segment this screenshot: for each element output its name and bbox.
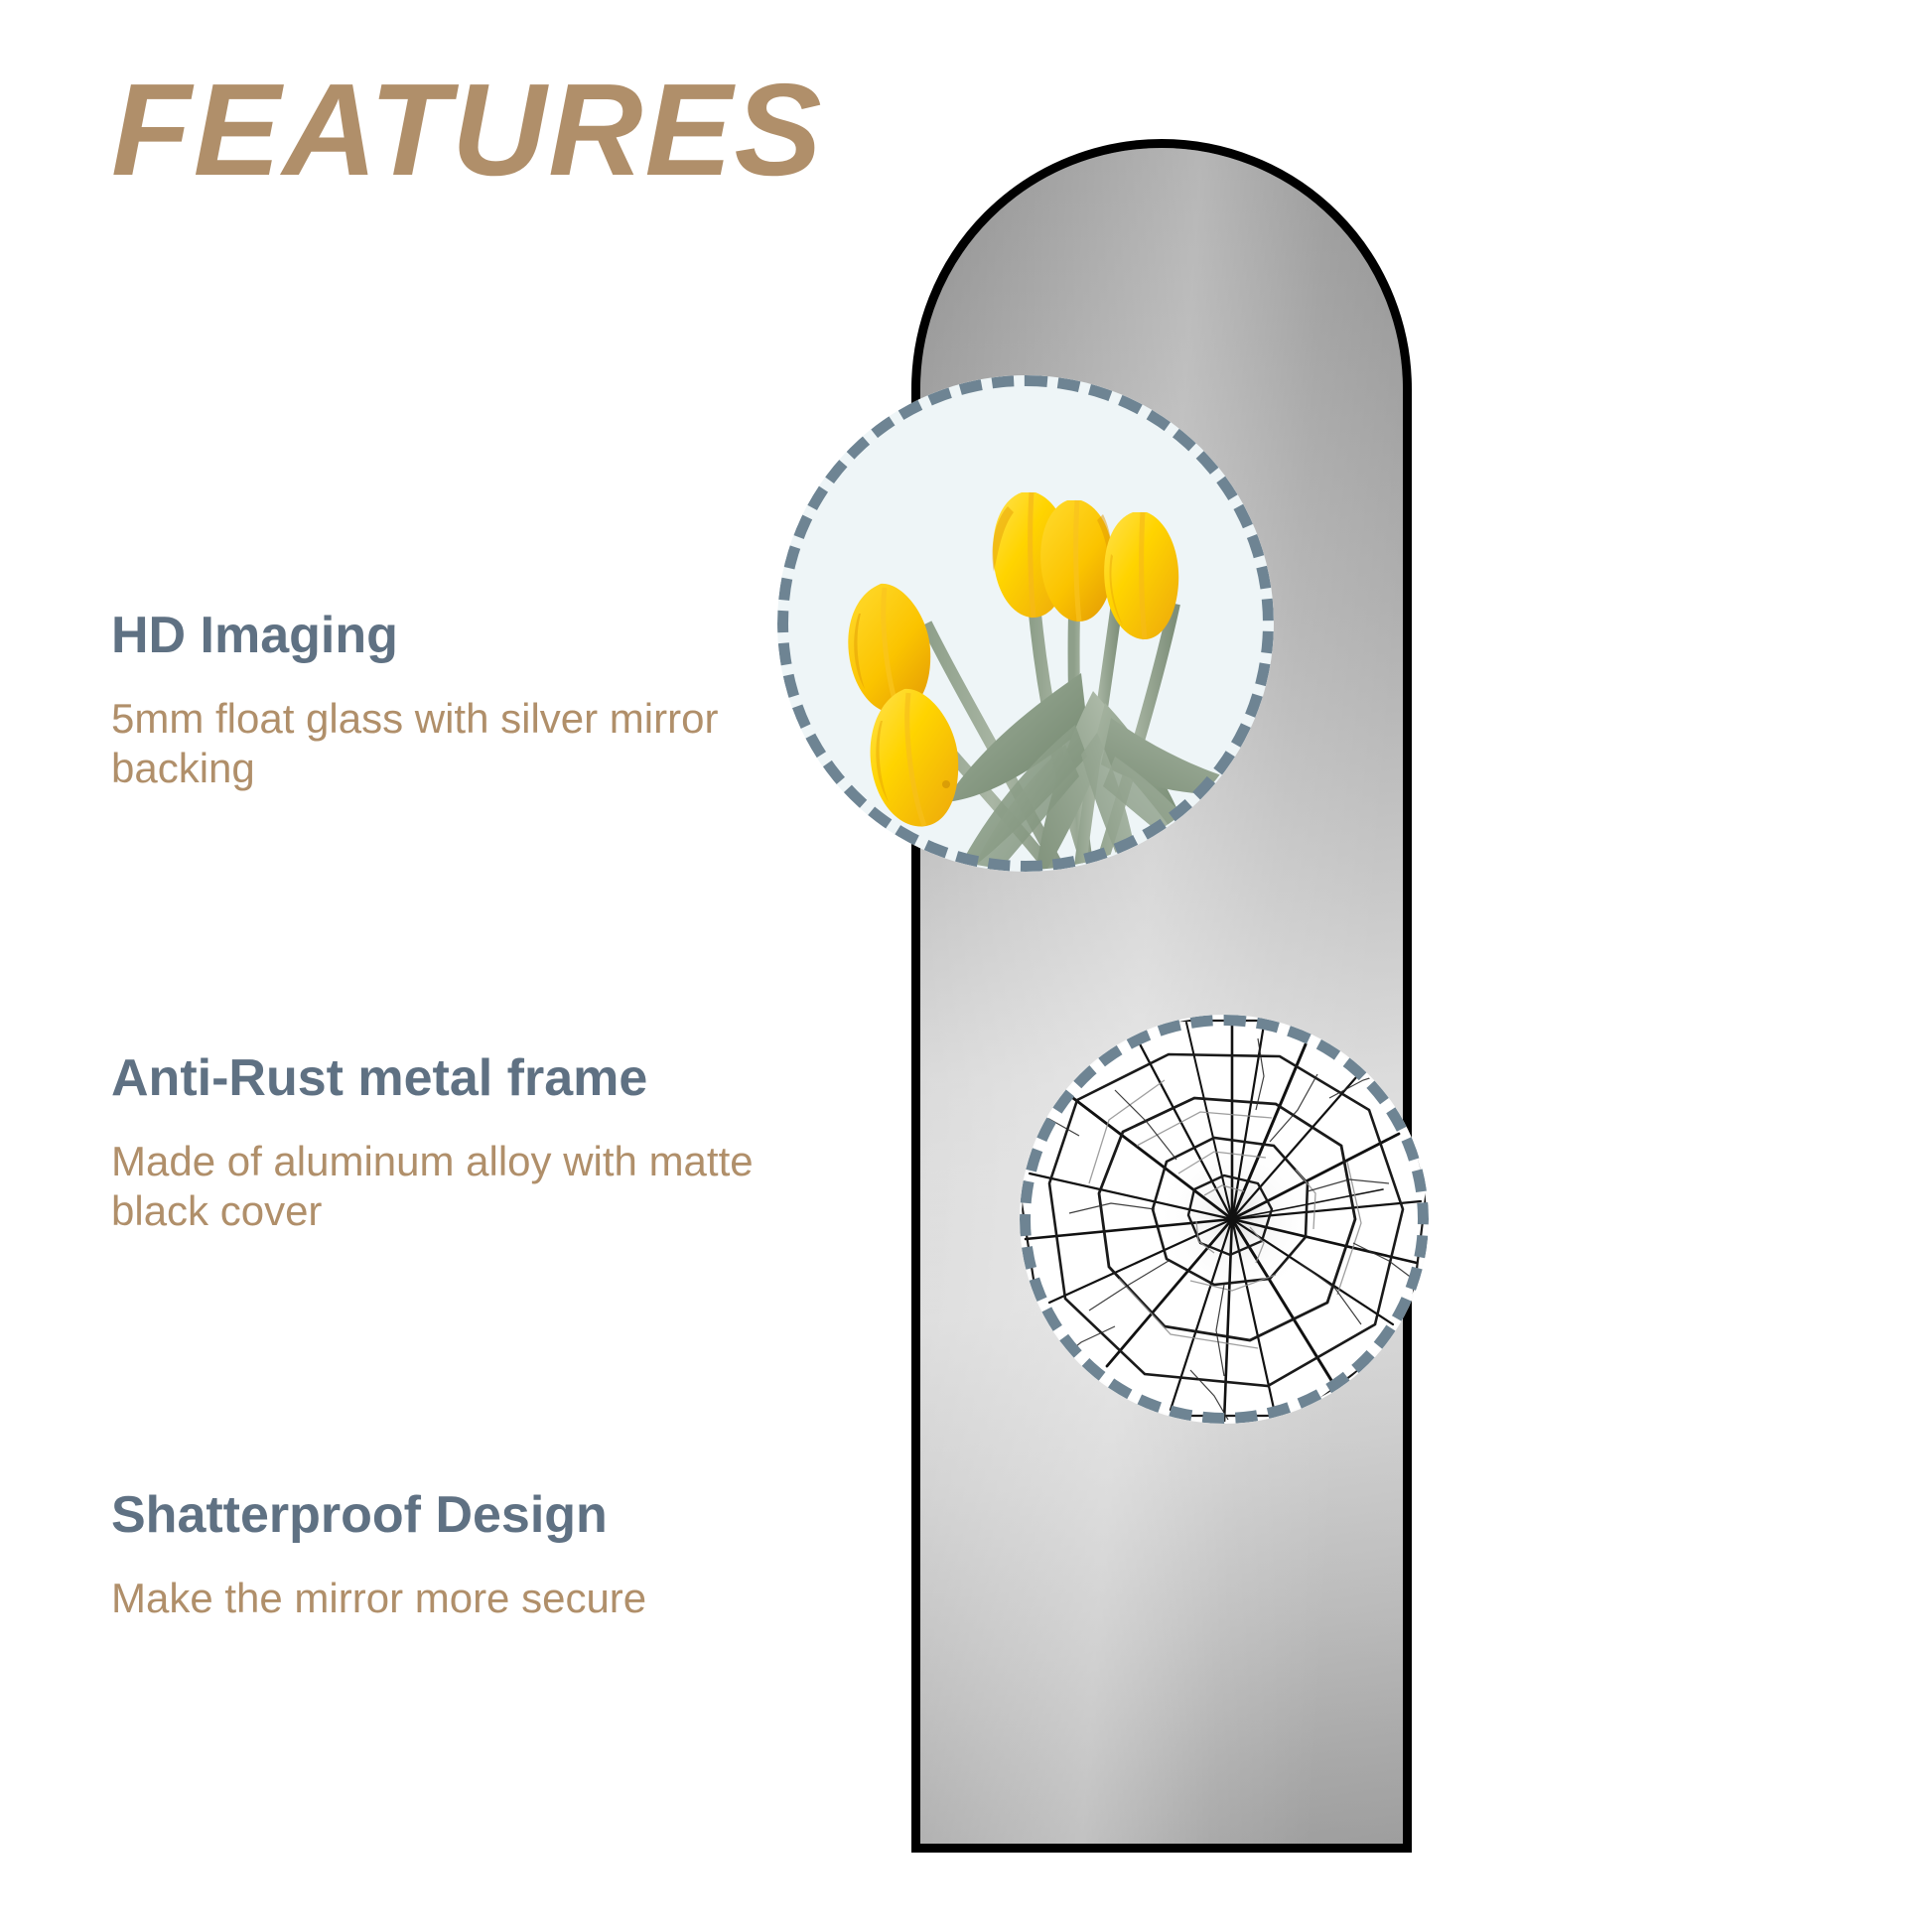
- feature-description: Made of aluminum alloy with matte black …: [111, 1137, 806, 1235]
- feature-item-hd-imaging: HD Imaging 5mm float glass with silver m…: [111, 608, 826, 792]
- feature-title: Shatterproof Design: [111, 1487, 826, 1544]
- cracked-glass-icon: [1020, 1015, 1429, 1424]
- feature-title: Anti-Rust metal frame: [111, 1050, 826, 1107]
- feature-description: 5mm float glass with silver mirror backi…: [111, 694, 806, 792]
- feature-item-shatterproof-design: Shatterproof Design Make the mirror more…: [111, 1487, 826, 1623]
- callout-shattered-glass: [1020, 1015, 1429, 1424]
- shattered-glass-illustration: [1020, 1015, 1429, 1424]
- feature-list: HD Imaging 5mm float glass with silver m…: [111, 0, 826, 1932]
- tulips-illustration: [777, 375, 1274, 872]
- yellow-tulips-bouquet-icon: [777, 375, 1274, 872]
- infographic-canvas: FEATURES HD Imaging 5mm float glass with…: [0, 0, 1932, 1932]
- feature-description: Make the mirror more secure: [111, 1574, 806, 1623]
- callout-tulips-reflection: [777, 375, 1274, 872]
- feature-title: HD Imaging: [111, 608, 826, 664]
- feature-item-anti-rust-frame: Anti-Rust metal frame Made of aluminum a…: [111, 1050, 826, 1235]
